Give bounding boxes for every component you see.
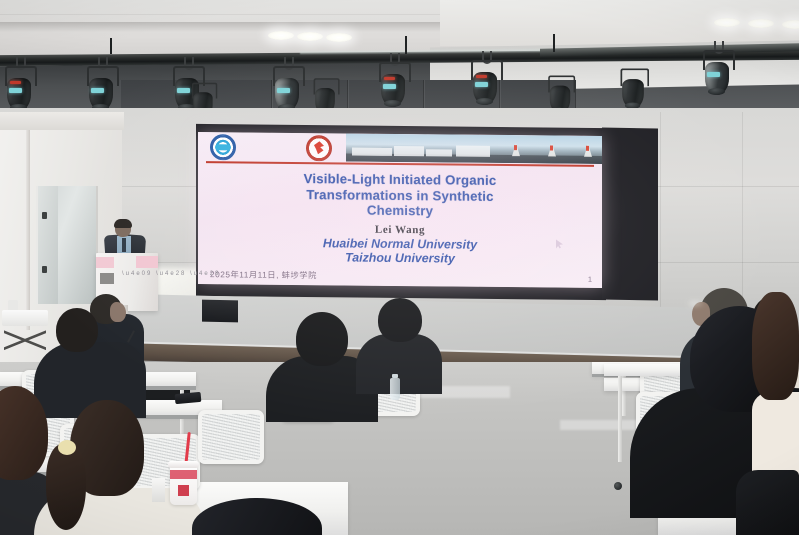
moving-head-light-11	[620, 68, 647, 109]
light-display	[383, 84, 396, 89]
banner-building	[352, 148, 392, 156]
projection-screen-dark-panel	[602, 128, 658, 301]
light-display	[91, 88, 104, 93]
light-led-indicator	[476, 75, 487, 78]
chair-backrest	[198, 410, 264, 464]
drink-cup-logo	[178, 485, 189, 496]
banner-building	[394, 146, 424, 156]
light-lens-icon	[476, 98, 493, 105]
audience-member-ponytail-left	[40, 400, 190, 535]
presenter-tie	[122, 238, 126, 252]
table-caster	[614, 482, 622, 490]
podium-inscription: \u4e09 \u4e28 \u4e28	[122, 271, 220, 277]
truss-cable	[405, 36, 407, 54]
slide-title-line-3: Chemistry	[222, 201, 578, 220]
downlight-5	[748, 19, 774, 28]
campus-photo-banner	[346, 133, 602, 163]
truss-cable	[553, 34, 555, 52]
slide-title: Visible-Light Initiated Organic Transfor…	[222, 170, 578, 220]
mouse-cursor-icon	[556, 239, 563, 248]
banner-tower-accent	[550, 145, 553, 150]
slide-date-venue: 2025年11月11日, 蚌埗学院	[210, 268, 317, 281]
audience-head	[378, 298, 422, 342]
moving-head-light-7	[378, 62, 408, 108]
moving-head-light-8	[470, 60, 500, 106]
back-wall-seam	[660, 112, 661, 327]
light-display	[277, 88, 290, 93]
light-display	[9, 88, 22, 93]
light-display	[475, 82, 488, 87]
slide-affiliation-2: Taizhou University	[222, 249, 578, 266]
audience-member-ponytail-right	[752, 292, 799, 492]
ceiling-panel-right	[440, 0, 799, 46]
drink-cup-band	[170, 470, 197, 479]
presenter-glasses-icon	[116, 227, 130, 231]
moving-head-light-10	[702, 50, 732, 96]
glasses-glint	[690, 302, 702, 305]
bag-body	[736, 470, 799, 535]
audience-ponytail	[46, 444, 86, 530]
light-lens-icon	[708, 88, 725, 95]
downlight-2	[297, 32, 323, 41]
door-leaf[interactable]	[38, 186, 58, 304]
bottle-cap	[392, 374, 398, 378]
truss-cable	[110, 38, 112, 54]
door-hinge	[42, 266, 47, 273]
downlight-1	[268, 31, 294, 40]
door-hinge	[42, 212, 47, 219]
left-wall-post	[26, 130, 30, 330]
drink-cup-lid	[168, 461, 199, 468]
downlight-4	[714, 18, 740, 27]
light-display	[177, 88, 190, 93]
banner-building	[426, 149, 452, 156]
banner-building	[456, 146, 490, 157]
light-led-indicator	[10, 81, 21, 84]
university-logo-red	[306, 135, 332, 161]
slide-page-number: 1	[588, 275, 592, 284]
banner-tower-accent	[586, 146, 589, 151]
light-lens-icon	[384, 100, 401, 107]
podium-plate	[100, 273, 114, 284]
napkin	[152, 478, 165, 502]
audience-member-bottom-center	[192, 498, 322, 535]
audience-head	[56, 308, 98, 352]
moving-head-light-2	[86, 66, 116, 112]
hair-scrunchie	[58, 440, 76, 455]
downlight-3	[326, 33, 352, 42]
doorway[interactable]	[36, 186, 98, 304]
table-leg	[618, 376, 622, 462]
audience-head	[752, 292, 799, 400]
banner-tower-accent	[514, 145, 517, 150]
audience-head	[296, 312, 348, 366]
podium-accent-right	[136, 256, 158, 268]
left-wall-soffit	[0, 112, 124, 130]
podium-accent-left	[96, 257, 114, 268]
projection-screen[interactable]: Visible-Light Initiated Organic Transfor…	[198, 132, 602, 288]
water-bottle[interactable]	[390, 378, 400, 400]
audience-bag-on-chair	[736, 470, 799, 535]
presentation-slide[interactable]: Visible-Light Initiated Organic Transfor…	[198, 132, 602, 288]
university-logo-blue	[210, 134, 236, 160]
light-display	[707, 72, 720, 77]
slide-affiliations: Huaibei Normal University Taizhou Univer…	[222, 235, 578, 266]
moving-head-light-1	[4, 66, 34, 112]
slide-header-banner	[198, 132, 602, 164]
moving-head-light-5	[272, 66, 302, 112]
stage-monitor	[202, 300, 238, 323]
light-led-indicator	[384, 77, 395, 80]
audience-head	[192, 498, 322, 535]
lecture-hall-scene: Visible-Light Initiated Organic Transfor…	[0, 0, 799, 535]
chair-center-3[interactable]	[198, 410, 256, 456]
